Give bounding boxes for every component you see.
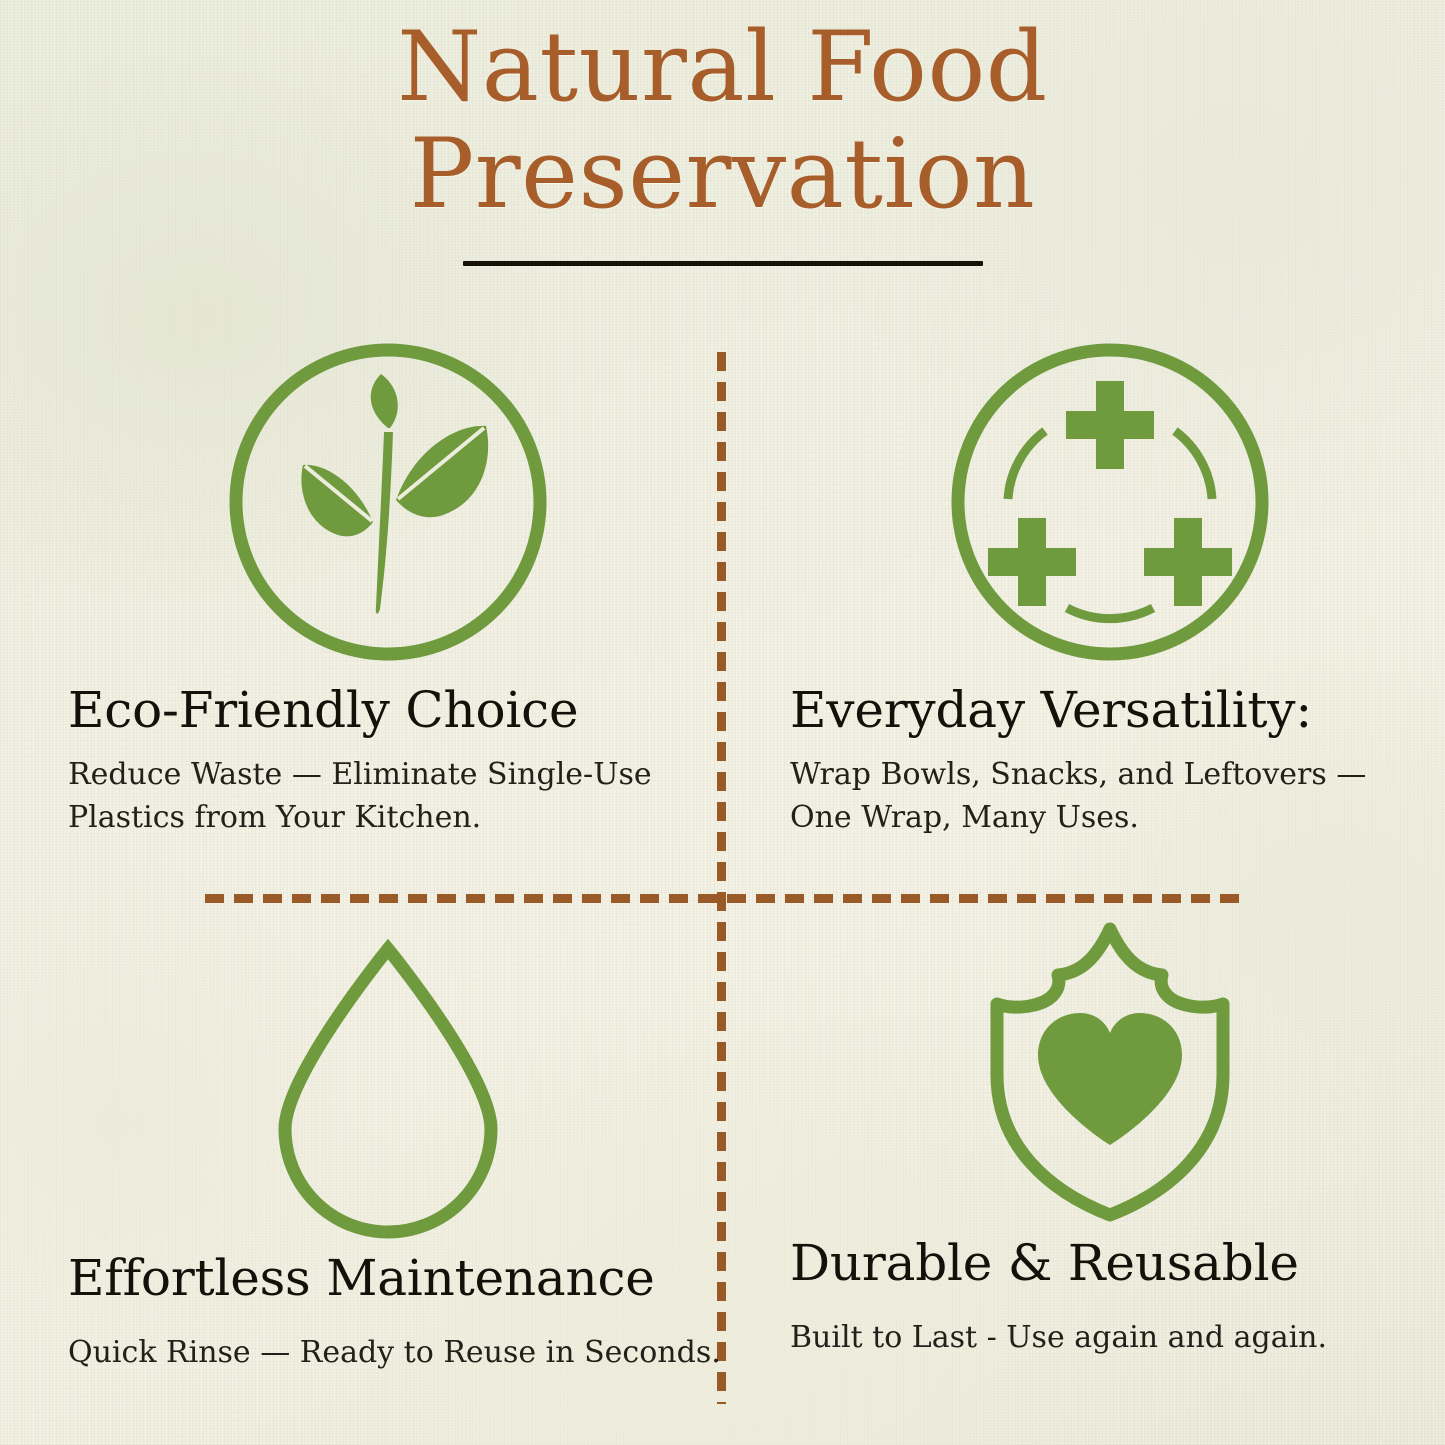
- poster-root: Natural FoodPreservation: [0, 0, 1445, 1445]
- feature-title: Durable & Reusable: [790, 1235, 1430, 1291]
- icon-slot: [68, 920, 708, 1250]
- feature-description: Built to Last - Use again and again.: [790, 1317, 1380, 1360]
- feature-card-eco-friendly: Eco-Friendly Choice Reduce Waste — Elimi…: [68, 322, 708, 839]
- icon-slot: [790, 322, 1430, 682]
- feature-description: Reduce Waste — Eliminate Single-Use Plas…: [68, 754, 658, 839]
- feature-card-durable: Durable & Reusable Built to Last - Use a…: [790, 905, 1430, 1360]
- feature-description: Quick Rinse — Ready to Reuse in Seconds.: [68, 1332, 658, 1375]
- plant-sprout-icon: [218, 332, 558, 672]
- feature-title: Eco-Friendly Choice: [68, 682, 708, 738]
- feature-title: Effortless Maintenance: [68, 1250, 708, 1306]
- feature-card-versatility: Everyday Versatility: Wrap Bowls, Snacks…: [790, 322, 1430, 839]
- shield-heart-icon: [980, 915, 1240, 1225]
- water-droplet-icon: [263, 935, 513, 1235]
- feature-card-maintenance: Effortless Maintenance Quick Rinse — Rea…: [68, 920, 708, 1375]
- title-block: Natural FoodPreservation: [0, 14, 1445, 266]
- feature-description: Wrap Bowls, Snacks, and Leftovers — One …: [790, 754, 1380, 839]
- icon-slot: [790, 905, 1430, 1235]
- three-plus-circle-icon: [940, 332, 1280, 672]
- icon-slot: [68, 322, 708, 682]
- title-underline-rule: [463, 261, 983, 266]
- page-title: Natural FoodPreservation: [0, 14, 1445, 227]
- feature-title: Everyday Versatility:: [790, 682, 1430, 738]
- title-line-1: Natural Food: [397, 11, 1047, 123]
- feature-grid: Eco-Friendly Choice Reduce Waste — Elimi…: [0, 300, 1445, 1445]
- title-line-2: Preservation: [410, 118, 1036, 230]
